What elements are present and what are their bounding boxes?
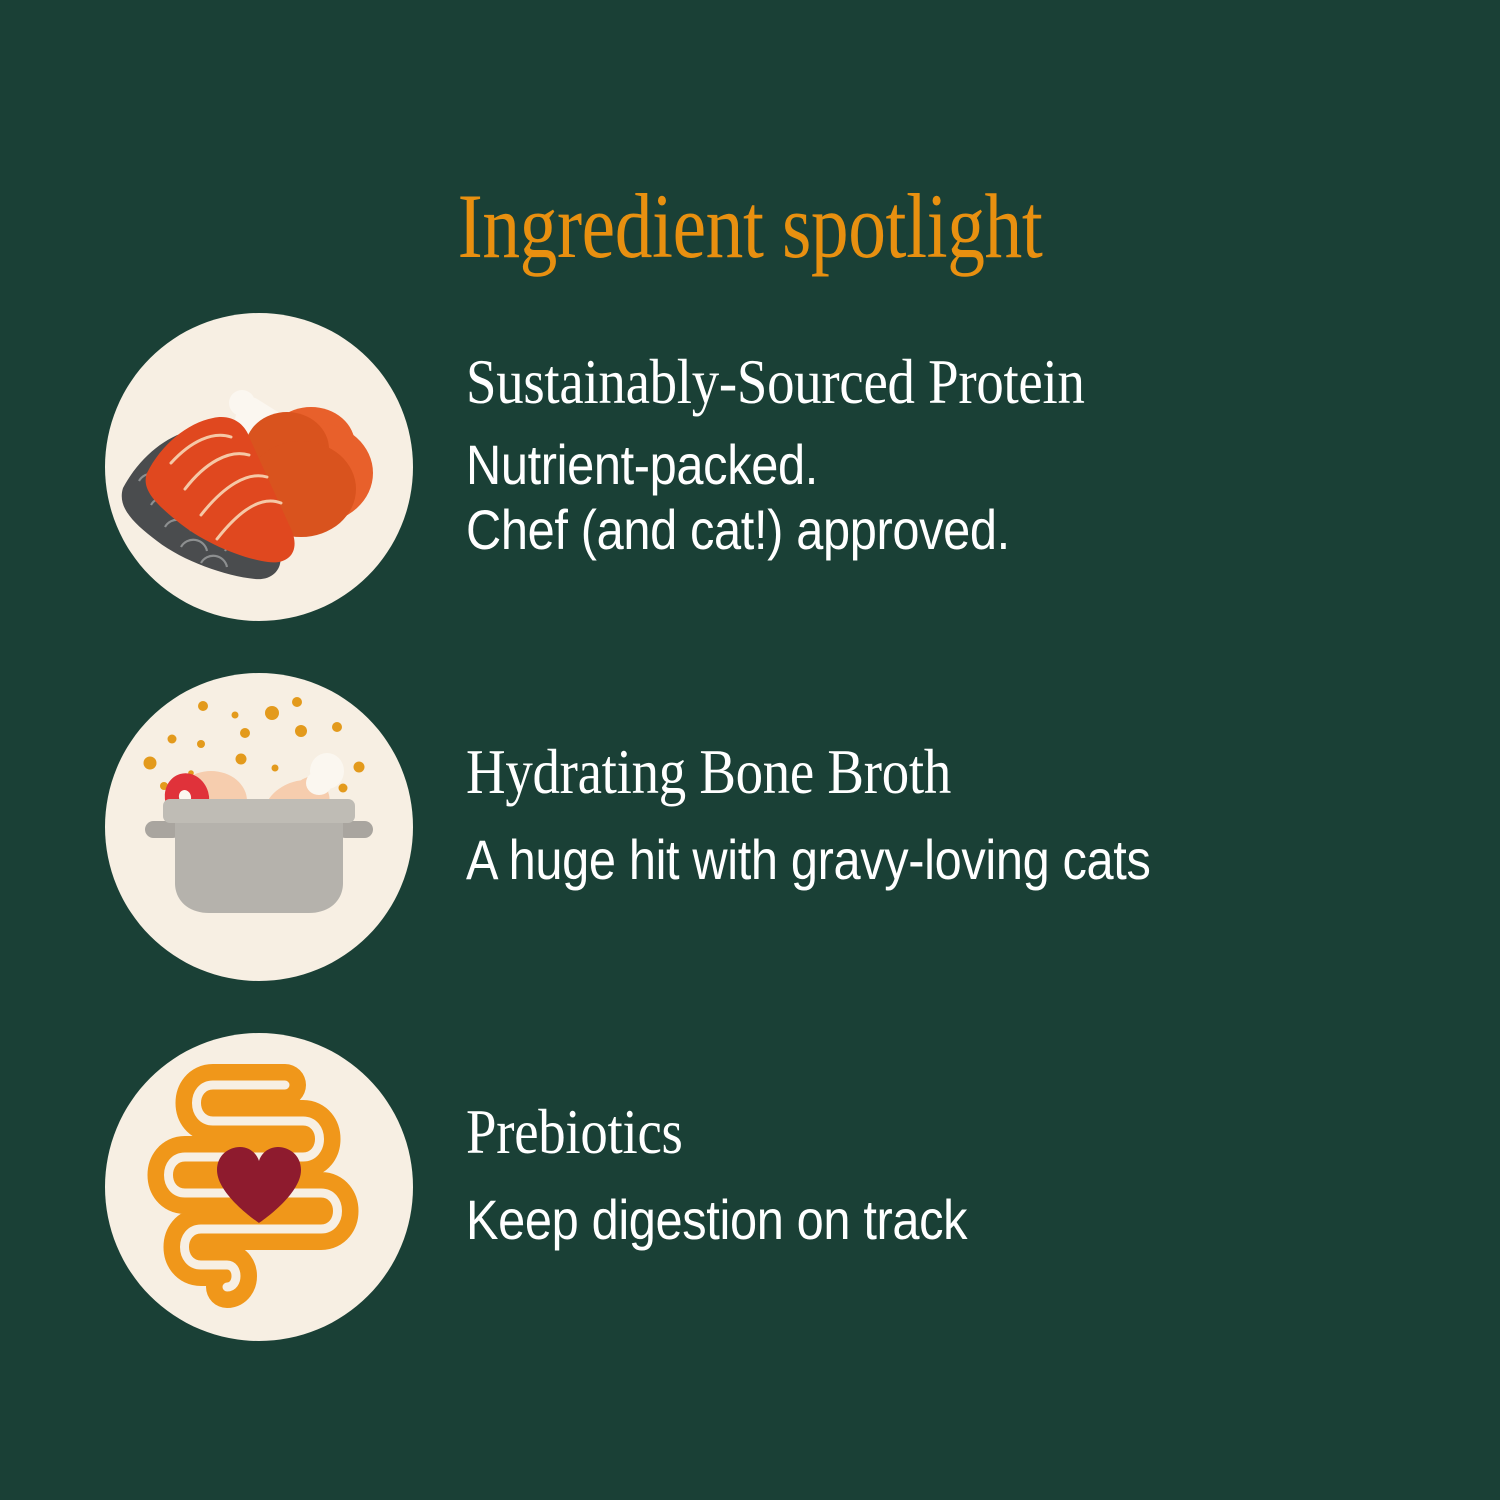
feature-heading: Sustainably-Sourced Protein xyxy=(466,351,1085,414)
feature-body: Nutrient-packed. Chef (and cat!) approve… xyxy=(466,433,1010,563)
feature-heading: Hydrating Bone Broth xyxy=(466,741,951,804)
stock-pot-icon xyxy=(105,673,413,981)
feature-text-prebiotics: Prebiotics Keep digestion on track xyxy=(466,1033,1466,1341)
feature-heading: Prebiotics xyxy=(466,1101,683,1164)
salmon-and-drumstick-icon xyxy=(105,313,413,621)
feature-body: A huge hit with gravy-loving cats xyxy=(466,828,1150,893)
feature-row-prebiotics: Prebiotics Keep digestion on track xyxy=(0,1033,1500,1341)
feature-text-bone-broth: Hydrating Bone Broth A huge hit with gra… xyxy=(466,673,1466,981)
feature-row-protein: Sustainably-Sourced Protein Nutrient-pac… xyxy=(0,313,1500,621)
feature-text-protein: Sustainably-Sourced Protein Nutrient-pac… xyxy=(466,313,1466,621)
feature-body: Keep digestion on track xyxy=(466,1188,967,1253)
ingredient-spotlight-panel: Ingredient spotlight xyxy=(0,0,1500,1500)
page-title: Ingredient spotlight xyxy=(135,180,1365,272)
intestine-heart-icon xyxy=(105,1033,413,1341)
feature-row-bone-broth: Hydrating Bone Broth A huge hit with gra… xyxy=(0,673,1500,981)
